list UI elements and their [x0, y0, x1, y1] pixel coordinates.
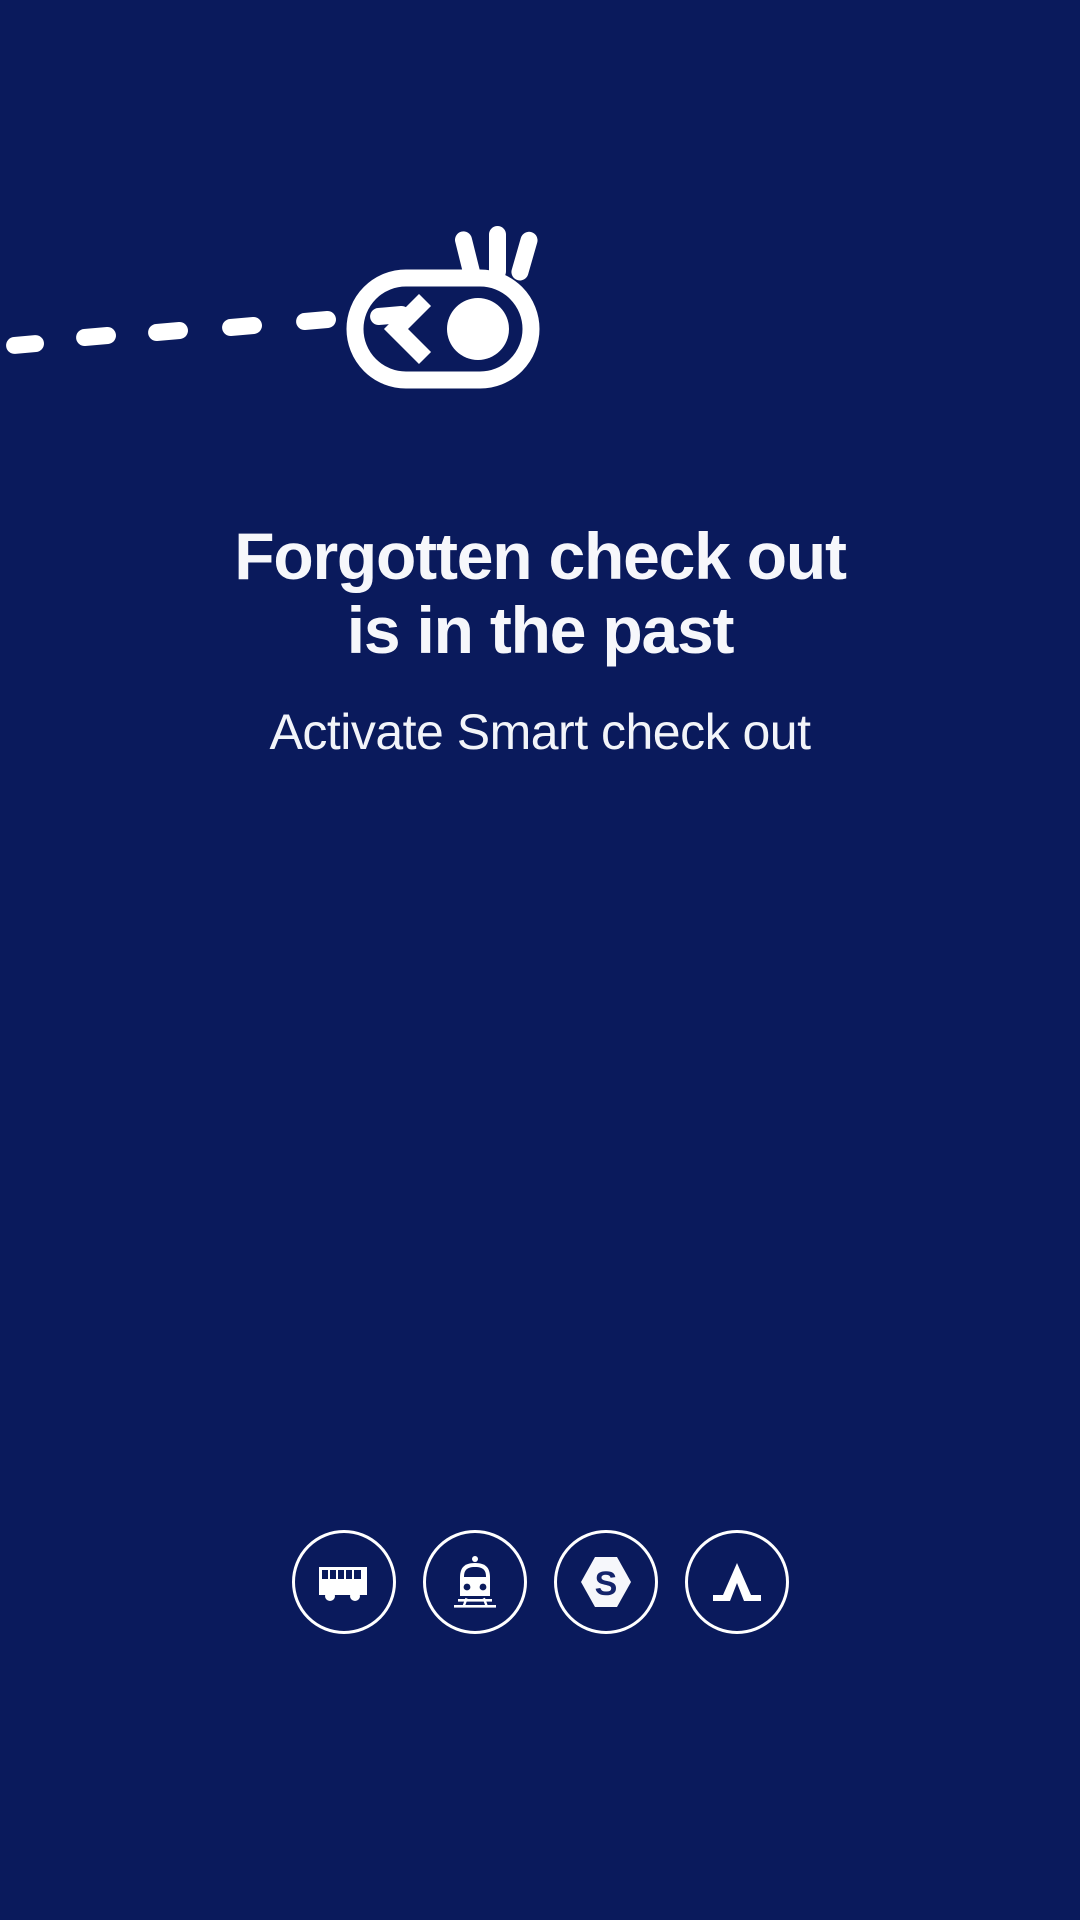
copy-block: Forgotten check out is in the past Activ… — [0, 520, 1080, 762]
page-subtitle: Activate Smart check out — [60, 702, 1020, 762]
onboarding-screen: Forgotten check out is in the past Activ… — [0, 0, 1080, 1920]
page-title: Forgotten check out is in the past — [60, 520, 1020, 668]
toggle-knob-icon — [447, 298, 509, 360]
transit-mode-sbahn: S — [554, 1530, 658, 1634]
bus-icon — [317, 1562, 371, 1602]
sbahn-letter: S — [594, 1565, 617, 1603]
train-icon — [453, 1556, 497, 1608]
hero-illustration — [0, 0, 1080, 470]
metro-icon — [711, 1561, 763, 1603]
transit-mode-train — [423, 1530, 527, 1634]
sbahn-icon: S — [578, 1555, 634, 1609]
toggle-switch-icon — [355, 278, 531, 380]
transit-mode-bus — [292, 1530, 396, 1634]
transit-mode-metro — [685, 1530, 789, 1634]
transit-modes-row: S — [0, 1530, 1080, 1634]
